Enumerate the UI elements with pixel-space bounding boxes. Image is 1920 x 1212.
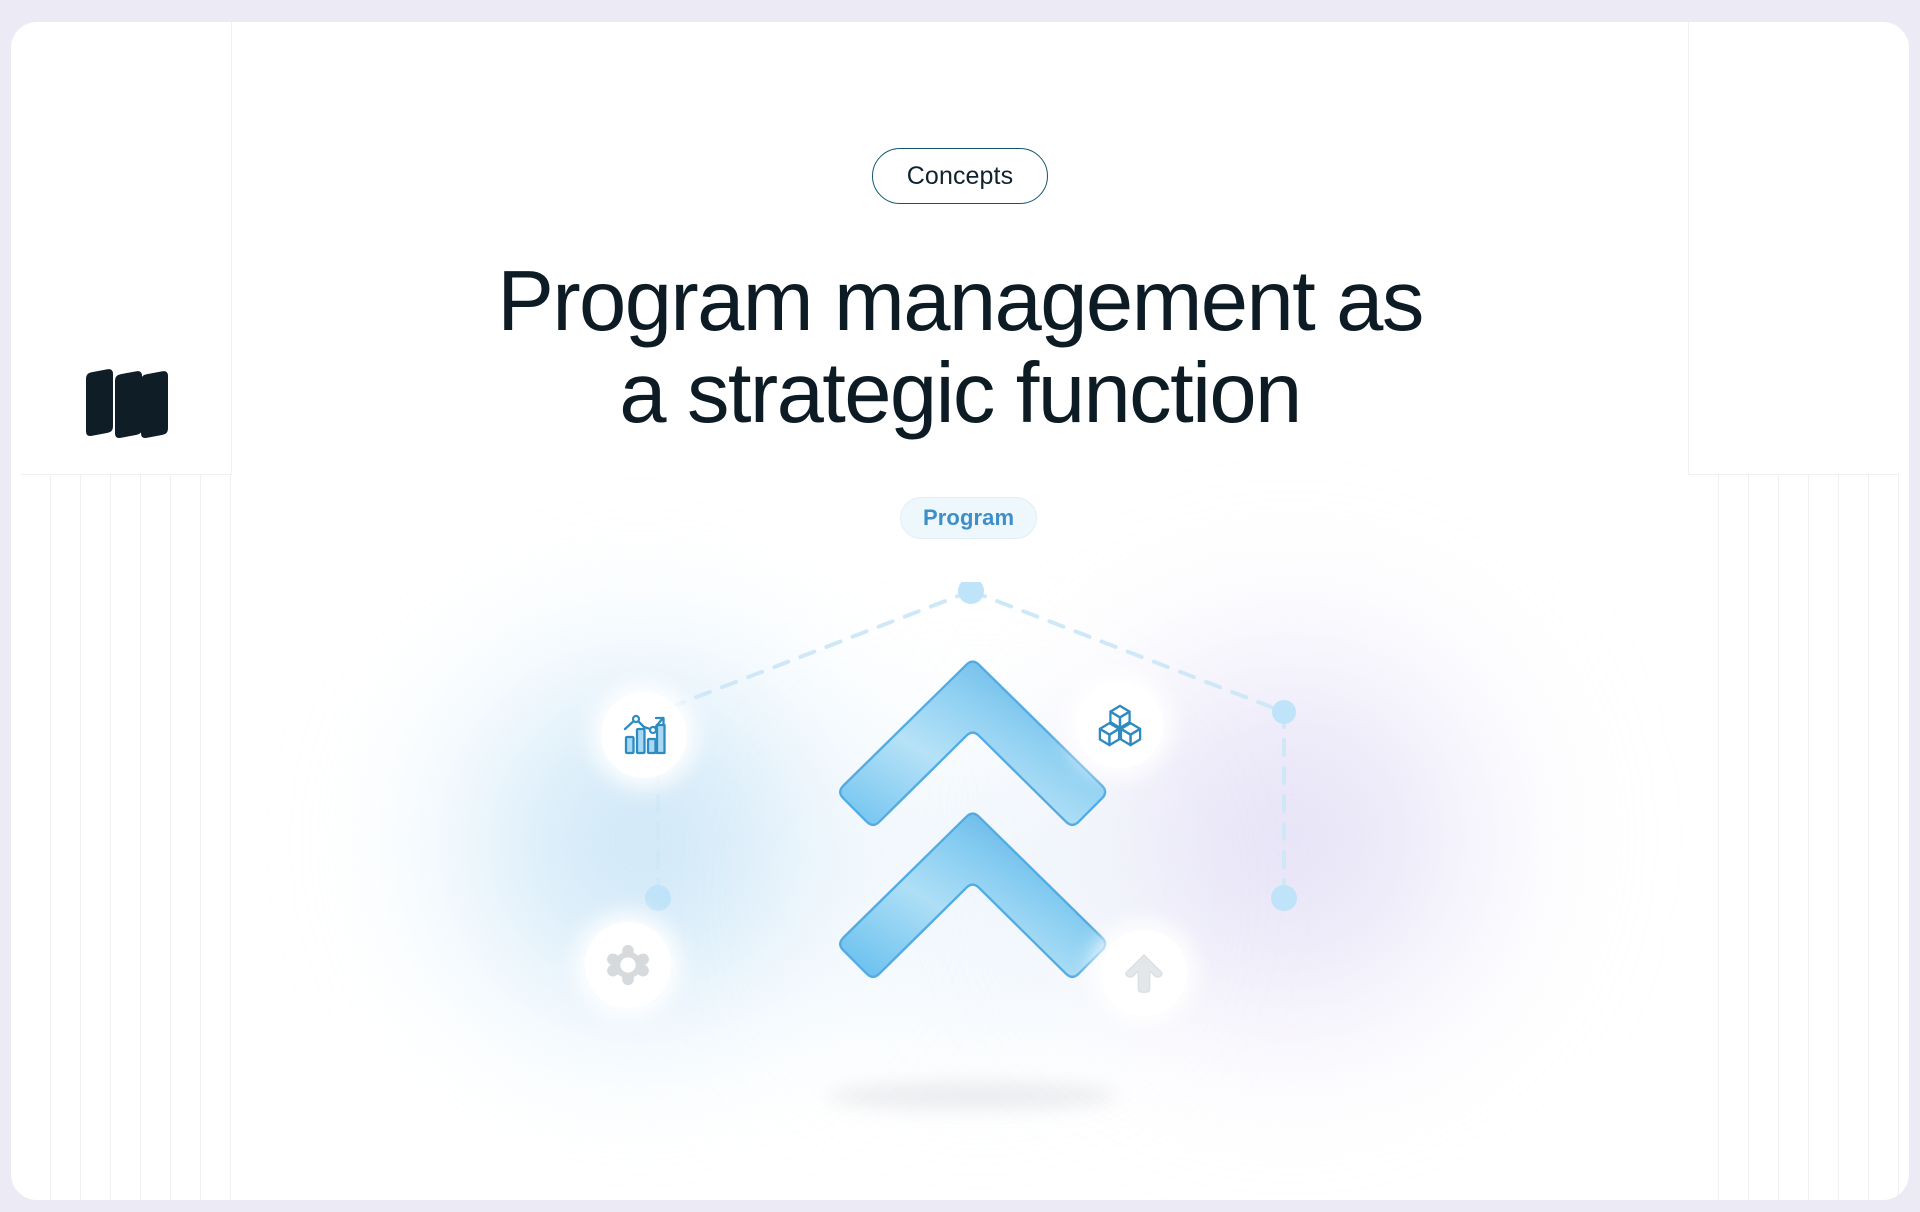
cubes-icon [1097, 702, 1143, 748]
eyebrow-pill-concepts[interactable]: Concepts [872, 148, 1048, 204]
content-card: Concepts Program management as a strateg… [11, 22, 1909, 1200]
illustration: Program [361, 582, 1581, 1200]
page-title: Program management as a strategic functi… [497, 256, 1422, 440]
page-title-line-2: a strategic function [497, 348, 1422, 440]
chevron-up-lower [840, 814, 1105, 977]
node-top[interactable] [958, 582, 984, 604]
chevron-up-upper [840, 662, 1105, 825]
icon-bubble-operations[interactable] [585, 922, 671, 1008]
stripe-pattern-right [1689, 474, 1899, 1200]
node-right-lower[interactable] [1271, 885, 1297, 911]
divider-horizontal-left [21, 474, 232, 475]
icon-bubble-building-blocks[interactable] [1077, 682, 1163, 768]
badge-program[interactable]: Program [900, 497, 1037, 539]
node-right-upper[interactable] [1272, 700, 1296, 724]
page-root: Concepts Program management as a strateg… [0, 0, 1920, 1212]
divider-horizontal-right [1688, 474, 1899, 475]
node-left-lower[interactable] [645, 885, 671, 911]
page-header: Concepts Program management as a strateg… [11, 148, 1909, 440]
icon-bubble-analytics[interactable] [601, 692, 687, 778]
stripe-pattern-left [21, 474, 231, 1200]
gear-icon [605, 942, 651, 988]
icon-bubble-growth[interactable] [1101, 930, 1187, 1016]
page-title-line-1: Program management as [497, 256, 1422, 348]
arrow-up-icon [1121, 950, 1167, 996]
connector-diagram [361, 582, 1581, 1200]
bar-chart-trend-icon [620, 711, 668, 759]
